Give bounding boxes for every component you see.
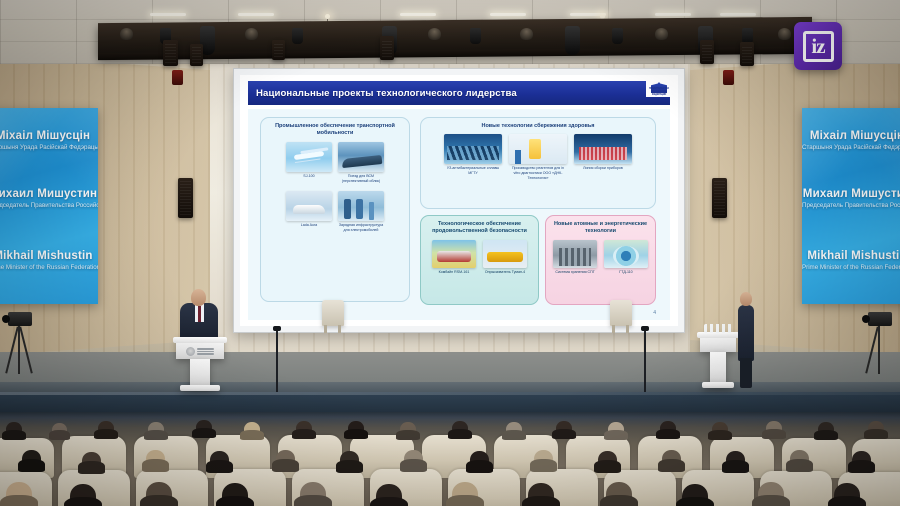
stage-spotlight [565, 26, 580, 55]
stage-spotlight [428, 28, 441, 40]
panel-atomic-energy-heading: Новые атомные и энергетические технологи… [546, 216, 655, 239]
podium-right [700, 332, 736, 352]
side-display-right: Міхаіл Мішусцін Старшыня Урада Расійскай… [802, 108, 900, 304]
broadcast-frame: Міхаіл Мішусцін Старшыня Урада Расійскай… [0, 0, 900, 506]
audience-head [148, 422, 164, 437]
speaker-name-ru: Михаил Мишустин [802, 188, 900, 201]
panel-food-security: Технологическое обеспечение продовольств… [420, 215, 539, 305]
panel-transport-items: SJ-100 Поезд для ВСМ (перспективный обли… [261, 141, 409, 184]
podium-left-base [180, 385, 220, 391]
audience-head [146, 450, 165, 468]
government-of-russia-emblem: ПРАВИТЕЛЬСТВО РОССИЙСКОЙ ФЕДЕРАЦИИ [646, 78, 672, 97]
audience-head [556, 421, 572, 436]
podium-left [176, 337, 224, 359]
audience-head [6, 422, 22, 437]
audience-head [528, 483, 554, 506]
slide-item: Lada Aura [286, 191, 332, 232]
audience-head [534, 450, 553, 468]
item-caption: Производство реагентов для in vitro диаг… [509, 166, 567, 180]
audience-head [790, 450, 809, 468]
speaker-tie [198, 306, 201, 322]
panel-health-items: УЗ-антибактериальные сплавы МГТУ Произво… [421, 133, 655, 181]
speaker-title-be: Старшыня Урада Расійскай Федэрацыі [0, 145, 98, 152]
audience-head [818, 422, 834, 437]
panel-health-heading: Новые технологии сбережения здоровья [421, 118, 655, 133]
podium-emblem [186, 346, 214, 357]
stage-spotlight [612, 28, 623, 44]
wall-speaker [163, 40, 178, 66]
audience-head [452, 421, 468, 436]
car-thumbnail [286, 191, 332, 221]
speaker-name-en: Mikhail Mishustin [0, 250, 98, 263]
audience-head [608, 422, 624, 437]
audience-head [296, 421, 312, 436]
wall-speaker [190, 44, 203, 66]
attendant-legs [740, 358, 752, 388]
slide: Национальные проекты технологического ли… [240, 75, 678, 326]
wall-speaker [272, 40, 285, 60]
camera-lens-icon [2, 315, 10, 323]
ceiling-light-tube [720, 13, 756, 16]
audience-head [82, 452, 101, 470]
audience-head [222, 483, 248, 506]
ev-charger-thumbnail [338, 191, 384, 221]
wall-speaker [740, 42, 754, 66]
camera-tripod-leg [878, 326, 880, 374]
audience-head [834, 483, 860, 506]
item-caption: Комбайн RSM-161 [432, 270, 476, 275]
item-caption: Система хранения СПГ [553, 270, 597, 275]
name-plate-english: Mikhail Mishustin Prime Minister of the … [802, 250, 900, 272]
slide-header: Национальные проекты технологического ли… [248, 81, 670, 105]
combine-harvester-thumbnail [432, 240, 476, 268]
wall-indicator-light [723, 70, 734, 85]
channel-logo: iz [794, 22, 842, 70]
audience-head [852, 451, 871, 469]
main-presentation-screen: Национальные проекты технологического ли… [233, 68, 685, 333]
audience-head [506, 422, 522, 437]
slide-item: Опрыскиватель Туман-4 [483, 240, 527, 275]
speaker-title-ru: Председатель Правительства Российской Фе… [0, 203, 98, 210]
attendant-torso [738, 305, 754, 361]
stage-spotlight [778, 28, 791, 40]
audience-head [598, 451, 617, 469]
camera-lens-icon [862, 315, 870, 323]
slide-item: УЗ-антибактериальные сплавы МГТУ [444, 134, 502, 180]
stage-chair [322, 300, 344, 326]
stage-floor-strip [0, 382, 900, 392]
slide-item: Линия сборки приборов [574, 134, 632, 180]
panel-transport: Промышленное обеспечение транспортной мо… [260, 117, 410, 302]
camera-body [8, 312, 32, 326]
speaker-title-en: Prime Minister of the Russian Federation [802, 265, 900, 272]
audience-head [146, 482, 172, 506]
metallurgy-thumbnail [444, 134, 502, 164]
speaker-name-ru: Михаил Мишустин [0, 188, 98, 201]
slide-item: Комбайн RSM-161 [432, 240, 476, 275]
audience-head [300, 482, 326, 506]
side-display-left: Міхаіл Мішусцін Старшыня Урада Расійскай… [0, 108, 98, 304]
name-plate-belarusian: Міхаіл Мішусцін Старшыня Урада Расійскай… [0, 130, 98, 152]
audience-head [210, 451, 229, 469]
audience-head [196, 420, 212, 435]
podium-right-base [702, 382, 734, 388]
audience-head [470, 451, 489, 469]
slide-body: Промышленное обеспечение транспортной мо… [248, 109, 670, 320]
audience-area [0, 412, 900, 506]
wall-speaker [700, 40, 714, 64]
wall-speaker [380, 36, 394, 60]
speaker-tower-left [178, 178, 193, 218]
slide-title: Национальные проекты технологического ли… [256, 88, 517, 99]
stage-spotlight [120, 28, 133, 40]
stage-spotlight [245, 28, 258, 40]
slide-item: Система хранения СПГ [553, 240, 597, 275]
audience-head [660, 421, 676, 436]
stage-spotlight [655, 28, 668, 40]
camera-tripod-leg [18, 326, 20, 374]
channel-logo-text: iz [803, 31, 834, 62]
lng-storage-thumbnail [553, 240, 597, 268]
camera-body [868, 312, 892, 326]
item-caption: ГТД-110 [604, 270, 648, 275]
ceiling-light-tube [400, 13, 436, 16]
audience-head [244, 422, 260, 437]
audience-head [758, 482, 784, 506]
audience-head [400, 422, 416, 437]
speaker-title-ru: Председатель Правительства Российской Фе… [802, 203, 900, 210]
item-caption: УЗ-антибактериальные сплавы МГТУ [444, 166, 502, 175]
sprayer-thumbnail [483, 240, 527, 268]
stage-spotlight [292, 28, 303, 44]
panel-transport-heading: Промышленное обеспечение транспортной мо… [261, 118, 409, 141]
name-plate-russian: Михаил Мишустин Председатель Правительст… [0, 188, 98, 210]
speaker-head [191, 289, 206, 306]
pendant-light [325, 14, 330, 19]
name-plate-english: Mikhail Mishustin Prime Minister of the … [0, 250, 98, 272]
airplane-thumbnail [286, 142, 332, 172]
item-caption: Зарядная инфраструктура для электромобил… [338, 223, 384, 232]
ceiling-light-tube [238, 13, 274, 16]
podium-left-column [190, 359, 210, 387]
panel-atomic-energy-items: Система хранения СПГ ГТД-110 [546, 239, 655, 276]
ceiling-light-tube [490, 13, 526, 16]
speaker-name-en: Mikhail Mishustin [802, 250, 900, 263]
stage-spotlight [520, 28, 533, 40]
podium-emblem-icon [186, 347, 195, 356]
emblem-caption: ПРАВИТЕЛЬСТВО РОССИЙСКОЙ ФЕДЕРАЦИИ [646, 87, 672, 96]
podium-top-surface [173, 337, 227, 343]
speaker-title-be: Старшыня Урада Расійскай Федэрацыі [802, 145, 900, 152]
microphone-stand [276, 330, 278, 392]
audience-head [662, 450, 681, 468]
slide-item: Зарядная инфраструктура для электромобил… [338, 191, 384, 232]
podium-right-column [710, 352, 726, 384]
audience-head [404, 450, 423, 468]
ceiling-light-tube [655, 13, 691, 16]
speaker-name-be: Міхаіл Мішусцін [802, 130, 900, 143]
audience-head [606, 482, 632, 506]
item-caption: Поезд для ВСМ (перспективный облик) [338, 174, 384, 183]
panel-food-security-items: Комбайн RSM-161 Опрыскиватель Туман-4 [421, 239, 538, 276]
audience-head [452, 482, 478, 506]
audience-head [340, 451, 359, 469]
item-caption: SJ-100 [286, 174, 332, 179]
attendant-head [740, 292, 752, 306]
speaker-name-be: Міхаіл Мішусцін [0, 130, 98, 143]
audience-head [376, 484, 402, 506]
audience-head [348, 421, 364, 436]
slide-item: ГТД-110 [604, 240, 648, 275]
item-caption: Линия сборки приборов [574, 166, 632, 171]
highspeed-train-thumbnail [338, 142, 384, 172]
slide-item: Производство реагентов для in vitro диаг… [509, 134, 567, 180]
slide-page-number: 4 [653, 310, 656, 316]
lab-reagents-thumbnail [509, 134, 567, 164]
wall-indicator-light [172, 70, 183, 85]
slide-item: Поезд для ВСМ (перспективный облик) [338, 142, 384, 183]
audience-head [70, 484, 96, 506]
item-caption: Lada Aura [286, 223, 332, 228]
gas-turbine-thumbnail [604, 240, 648, 268]
name-plate-russian: Михаил Мишустин Председатель Правительст… [802, 188, 900, 210]
audience-head [22, 450, 41, 468]
audience-head [712, 422, 728, 437]
audience-head [6, 482, 32, 506]
audience-head [868, 421, 884, 436]
name-plate-belarusian: Міхаіл Мішусцін Старшыня Урада Расійскай… [802, 130, 900, 152]
audience-head [726, 451, 745, 469]
microphone-stand [644, 330, 646, 392]
speaker-tower-right [712, 178, 727, 218]
audience-head [276, 450, 295, 468]
audience-head [98, 421, 114, 436]
water-bottles [704, 324, 732, 333]
stage-spotlight [470, 28, 481, 44]
panel-health: Новые технологии сбережения здоровья УЗ-… [420, 117, 656, 209]
audience-head [52, 423, 67, 437]
podium-emblem-text [197, 347, 214, 356]
audience-head [682, 484, 708, 506]
stage-chair [610, 300, 632, 326]
panel-transport-items-2: Lada Aura Зарядная инфраструктура для эл… [261, 190, 409, 233]
slide-item: SJ-100 [286, 142, 332, 183]
assembly-line-thumbnail [574, 134, 632, 164]
panel-atomic-energy: Новые атомные и энергетические технологи… [545, 215, 656, 305]
item-caption: Опрыскиватель Туман-4 [483, 270, 527, 275]
ceiling-light-tube [150, 13, 186, 16]
speaker-title-en: Prime Minister of the Russian Federation [0, 265, 98, 272]
panel-food-security-heading: Технологическое обеспечение продовольств… [421, 216, 538, 239]
audience-head [766, 421, 782, 436]
